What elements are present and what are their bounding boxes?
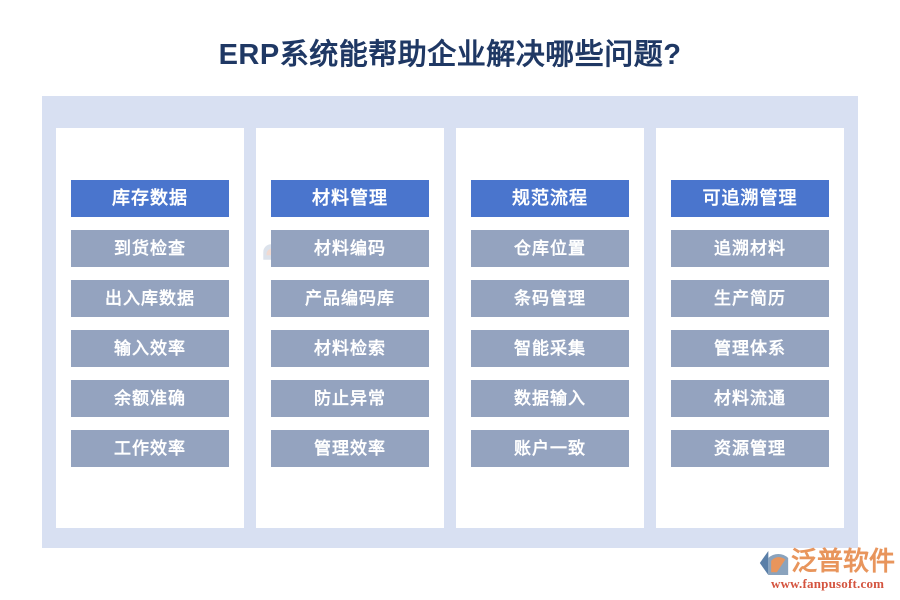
column-2-item-3[interactable]: 材料检索 [271,330,429,367]
column-1-item-1[interactable]: 到货检查 [71,230,229,267]
column-4-item-4[interactable]: 材料流通 [671,380,829,417]
column-4-header[interactable]: 可追溯管理 [671,180,829,217]
infographic-page: ERP系统能帮助企业解决哪些问题? 库存数据 到货检查 出入库数据 输入效率 余… [0,0,900,600]
column-1-item-4[interactable]: 余额准确 [71,380,229,417]
fanpu-logo-icon [757,548,791,578]
column-1-item-3[interactable]: 输入效率 [71,330,229,367]
brand-logo: 泛普软件 www.fanpusoft.com [757,546,897,594]
column-4-item-1[interactable]: 追溯材料 [671,230,829,267]
column-3-item-1[interactable]: 仓库位置 [471,230,629,267]
column-card-4: 可追溯管理 追溯材料 生产简历 管理体系 材料流通 资源管理 [656,128,844,528]
column-1-item-5[interactable]: 工作效率 [71,430,229,467]
column-3-header[interactable]: 规范流程 [471,180,629,217]
column-3-item-5[interactable]: 账户一致 [471,430,629,467]
column-4-item-5[interactable]: 资源管理 [671,430,829,467]
column-1-item-2[interactable]: 出入库数据 [71,280,229,317]
column-3-item-4[interactable]: 数据输入 [471,380,629,417]
column-2-header[interactable]: 材料管理 [271,180,429,217]
column-card-3: 规范流程 仓库位置 条码管理 智能采集 数据输入 账户一致 [456,128,644,528]
column-card-2: 泛普软件 FANPU SOFTWARE 材料管理 材料编码 产品编码库 材料检索… [256,128,444,528]
column-4-item-3[interactable]: 管理体系 [671,330,829,367]
column-3-item-3[interactable]: 智能采集 [471,330,629,367]
page-title: ERP系统能帮助企业解决哪些问题? [219,36,682,74]
column-2-item-2[interactable]: 产品编码库 [271,280,429,317]
column-2-item-5[interactable]: 管理效率 [271,430,429,467]
title-bar: ERP系统能帮助企业解决哪些问题? [0,36,900,74]
column-4-item-2[interactable]: 生产简历 [671,280,829,317]
column-1-header[interactable]: 库存数据 [71,180,229,217]
column-2-item-4[interactable]: 防止异常 [271,380,429,417]
columns-container: 库存数据 到货检查 出入库数据 输入效率 余额准确 工作效率 泛普软件 FANP… [56,128,844,528]
column-card-1: 库存数据 到货检查 出入库数据 输入效率 余额准确 工作效率 [56,128,244,528]
brand-logo-url: www.fanpusoft.com [771,576,884,592]
column-3-item-2[interactable]: 条码管理 [471,280,629,317]
column-2-item-1[interactable]: 材料编码 [271,230,429,267]
brand-logo-name: 泛普软件 [791,546,895,576]
